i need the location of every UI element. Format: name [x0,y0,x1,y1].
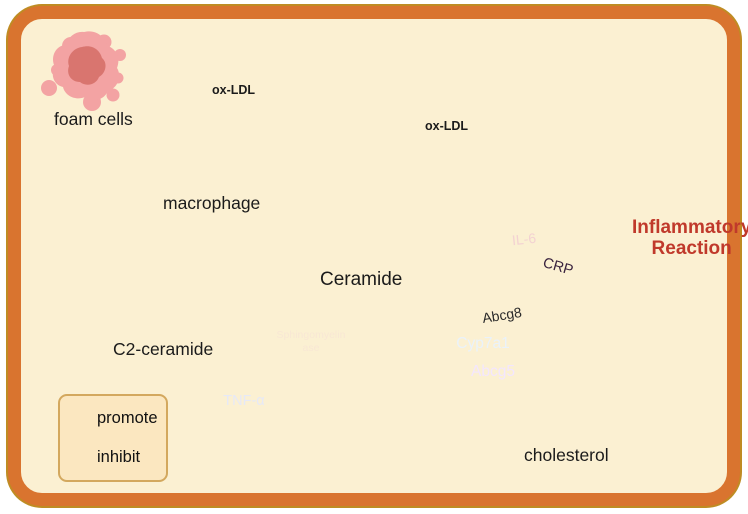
cyp7a1-label: Cyp7a1 [437,331,529,357]
macrophage-label: macrophage [163,194,260,213]
cholesterol-label: cholesterol [524,446,609,465]
c2-ceramide-label: C2-ceramide [113,340,213,359]
ox-ldl-label-right: ox-LDL [425,120,468,134]
abcg5-label: Abcg5 [447,359,539,385]
legend-inhibit-label: inhibit [97,448,140,467]
smase-label-line2: ase [303,342,320,355]
ceramide-label: Ceramide [320,270,402,291]
legend-promote-label: promote [97,409,158,428]
diagram-canvas: foam cells macrophage ox-LDL ox-LDL Cera… [0,0,748,514]
foam-cell-icon [41,31,126,111]
foam-cells-label: foam cells [54,110,133,129]
smase-label-line1: Sphingomyelin [277,329,346,342]
legend-box [58,394,168,482]
inflammatory-reaction-line1: Inflammatory [632,217,748,238]
tnfa-label: TNF-α [209,389,279,413]
ox-ldl-label-left: ox-LDL [212,84,255,98]
inflammatory-reaction-line2: Reaction [652,238,732,259]
